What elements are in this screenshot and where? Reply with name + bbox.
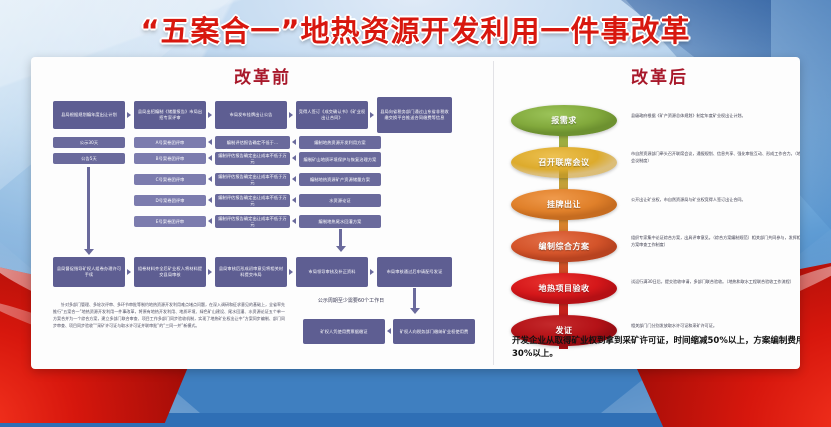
arrow-left-icon (208, 176, 212, 182)
arrow-down-icon (336, 246, 346, 252)
reform-conclusion: 开发企业从取得矿业权到拿到采矿许可证，时间缩减50%以上，方案编制费用减少30%… (512, 335, 800, 361)
flow-box-bottom-4: 市局领导审核及补正资料 (296, 257, 368, 287)
arrow-left-icon (387, 328, 391, 334)
flow-box-plan-1: 编制地热资源开发利用方案 (299, 136, 381, 149)
flow-box-bottom-1: 县局督促指导矿权人组卷办理许可手续 (53, 257, 125, 287)
arrow-right-icon (208, 269, 212, 275)
public-notice-period-note: 公示周期至少需要60个工作日 (303, 298, 399, 306)
flow-box-case-a: A号案卷团评审 (134, 137, 206, 148)
step-desc-4: 组织专家集中论证综合方案，出具评审意见。（综合方案编制规范）相关部门共同参与，发… (631, 235, 800, 248)
flow-box-top-1: 县局根据规划编年度出让计划 (53, 101, 125, 129)
flow-box-plan-5: 编制地热尾水回灌方案 (299, 215, 381, 228)
flow-box-cost-2: 编制评估报告确定出让成本不低于万元 (215, 152, 290, 165)
section-heading-before: 改革前 (234, 63, 291, 88)
flow-box-bottom-3: 县局审核后形成初审意见将相关材料提交市局 (215, 257, 287, 287)
connector-line-vertical (413, 288, 416, 309)
flow-box-cost-5: 编制评估报告确定出让成本不低于万元 (215, 215, 290, 228)
step-desc-5: 试运行满30日后，提交验收申请，多部门联合验收。（地热和取水工程联合验收工作流程… (631, 279, 800, 286)
arrow-right-icon (370, 269, 374, 275)
flow-box-cost-1: 编制评估报告确定不低于... (215, 136, 290, 149)
poster-title: “五案合一”地热资源开发利用一件事改革 (0, 8, 831, 50)
arrow-right-icon (127, 112, 131, 118)
flow-box-left-2: 公告5天 (53, 153, 125, 164)
arrow-left-icon (208, 139, 212, 145)
step-desc-6: 相关部门门分别发放取水许可证和采矿许可证。 (631, 323, 800, 330)
arrow-down-icon (84, 249, 94, 255)
arrow-right-icon (127, 269, 131, 275)
flow-box-case-c: C号案卷团评审 (134, 174, 206, 185)
flow-box-top-3: 市局发布挂牌出让公告 (215, 101, 287, 129)
step-desc-1: 县级政府根据《矿产资源总体规划》制定年度矿业权出让计划。 (631, 113, 800, 120)
step-desc-3: 公开出让矿业权，市自然资源局与矿业权竞得人签订出让合同。 (631, 197, 800, 204)
flow-box-bottom-2: 组卷材料齐全后矿业权人将材料提交县局审核 (134, 257, 206, 287)
step-ellipse-3[interactable]: 挂牌出让 (511, 189, 617, 220)
arrow-left-icon (292, 155, 296, 161)
flow-box-case-e: E号案卷团评审 (134, 216, 206, 227)
step-ellipse-5[interactable]: 地热项目验收 (511, 273, 617, 304)
flow-box-top-5: 县局向省税务部门通过山东省非税收缴交换平台推送合同缴费等信息 (377, 97, 452, 133)
reform-summary-paragraph: 针对多部门管理、多轮次评审、多环节审批等制约地热资源开发利用难点堵点问题，在深入… (53, 301, 285, 329)
content-panel: 改革前 改革后 县局根据规划编年度出让计划 县局出招编制《储量报告》市局出招专家… (31, 57, 800, 369)
connector-line-vertical (87, 167, 90, 250)
step-ellipse-4[interactable]: 编制综合方案 (511, 231, 617, 262)
flow-box-left-1: 公示30天 (53, 137, 125, 148)
arrow-right-icon (208, 112, 212, 118)
arrow-left-icon (208, 155, 212, 161)
arrow-right-icon (289, 269, 293, 275)
flow-box-top-2: 县局出招编制《储量报告》市局出招专家评审 (134, 101, 206, 129)
arrow-right-icon (370, 112, 374, 118)
flow-box-fee-receipt: 矿权人凭使用费票据缴证 (303, 319, 385, 344)
flow-box-case-b: B号案卷团评审 (134, 153, 206, 164)
flow-box-top-4: 竞得人签订《成交确认书》《矿业权出让合同》 (296, 101, 368, 129)
section-heading-after: 改革后 (631, 63, 688, 88)
arrow-left-icon (208, 197, 212, 203)
flow-box-plan-2: 编制矿山地质环境保护与恢复治理方案 (299, 152, 381, 167)
panel-divider (493, 61, 494, 365)
flow-box-plan-4: 水资源论证 (299, 194, 381, 207)
connector-line-vertical (339, 229, 342, 247)
arrow-left-icon (208, 218, 212, 224)
step-ellipse-1[interactable]: 报需求 (511, 105, 617, 136)
arrow-left-icon (292, 139, 296, 145)
arrow-down-icon (410, 308, 420, 314)
flow-box-cost-4: 编制评估报告确定出让成本不低于万元 (215, 194, 290, 207)
arrow-left-icon (292, 218, 296, 224)
flow-box-fee-payment: 矿权人向税务部门缴纳矿业权使用费 (393, 319, 475, 344)
flow-box-plan-3: 编制地热资源矿产资源储量方案 (299, 173, 381, 186)
step-ellipse-2[interactable]: 召开联席会议 (511, 147, 617, 178)
flow-box-bottom-5: 市局审核通过后申请配号发证 (377, 257, 452, 287)
arrow-left-icon (292, 197, 296, 203)
flow-box-case-d: D号案卷团评审 (134, 195, 206, 206)
step-desc-2: 市自然资源部门牵头召开联席会议，通报规划、信息共享、强化审批互动、形成工作合力。… (631, 151, 800, 164)
arrow-left-icon (292, 176, 296, 182)
arrow-right-icon (289, 112, 293, 118)
flow-box-cost-3: 编制评估报告确定出让成本不低于万元 (215, 173, 290, 186)
